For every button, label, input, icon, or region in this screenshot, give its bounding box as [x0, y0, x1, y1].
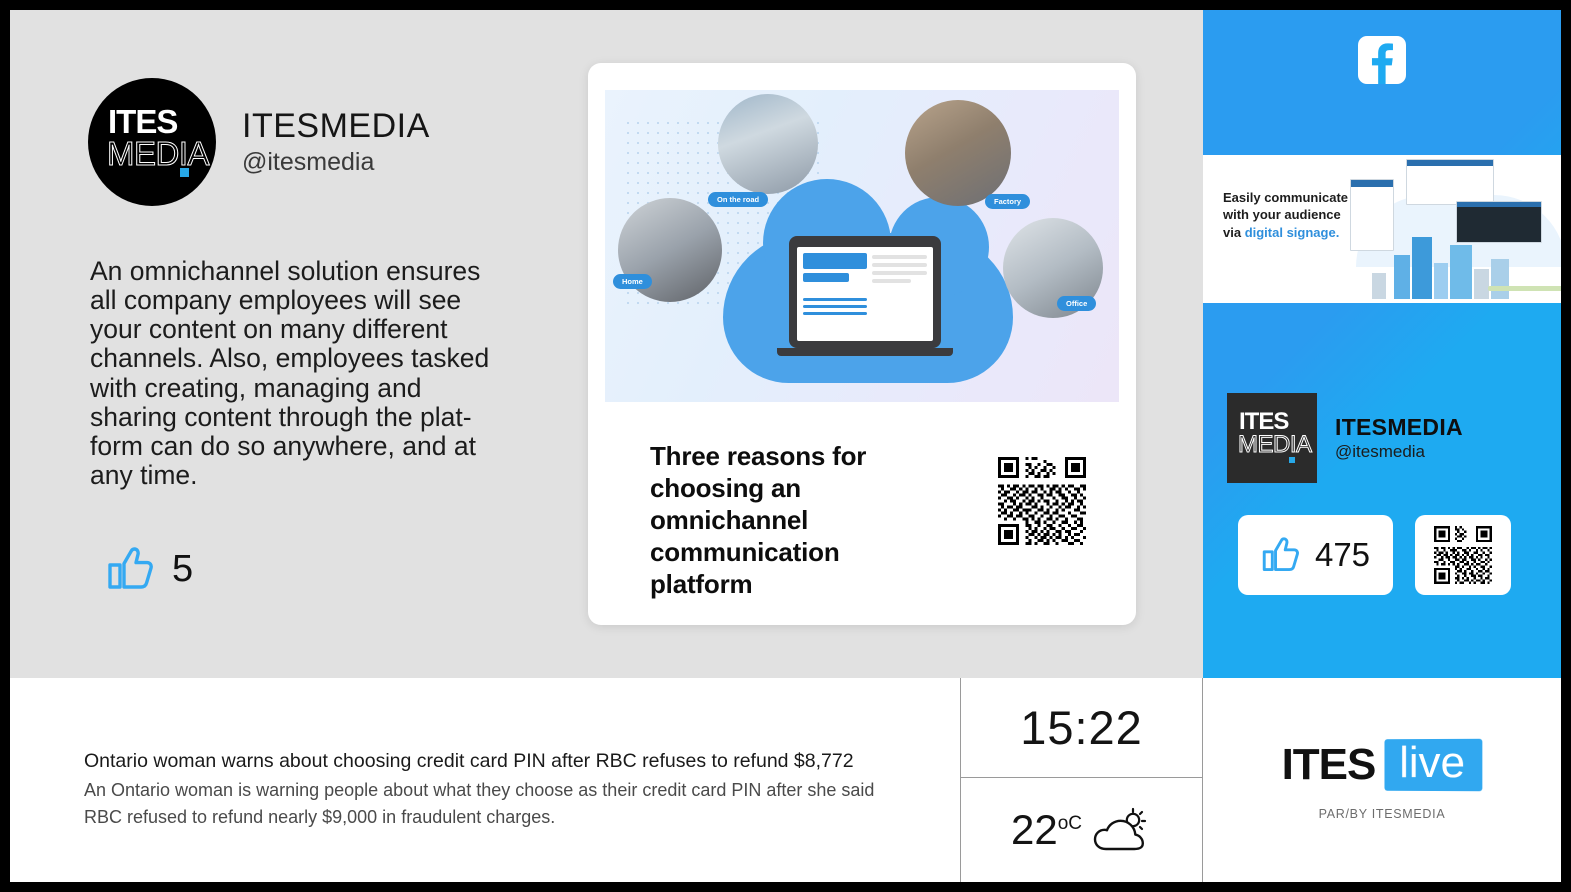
image-label-office: Office — [1057, 296, 1096, 311]
sidebar-logo-line2: MEDIA — [1238, 433, 1312, 457]
photo-circle-factory — [905, 100, 1011, 206]
sidebar-qr-card[interactable] — [1415, 515, 1511, 595]
like-count: 5 — [172, 548, 193, 591]
footer-branding: ITES live PAR/BY ITESMEDIA — [1203, 678, 1561, 882]
sidebar-profile-handle: @itesmedia — [1335, 442, 1463, 462]
avatar-logo-line2: MEDIA — [107, 137, 209, 170]
post-image: On the road Factory Home Office — [605, 90, 1119, 402]
profile-header: ITES MEDIA ITESMEDIA @itesmedia — [88, 78, 430, 206]
thumbs-up-icon — [106, 545, 158, 593]
news-ticker-panel: Ontario woman warns about choosing credi… — [10, 678, 960, 882]
clock-weather-panel: 15:22 22oC — [960, 678, 1203, 882]
weather-temperature: 22oC — [1011, 806, 1082, 854]
clock-time: 15:22 — [1020, 700, 1143, 755]
post-card[interactable]: On the road Factory Home Office — [588, 63, 1136, 625]
sidebar-logo: ITES MEDIA — [1227, 393, 1317, 483]
sidebar: Easily communicate with your audience vi… — [1203, 10, 1561, 882]
news-description: An Ontario woman is warning people about… — [84, 777, 894, 831]
signage-screen: ITES MEDIA ITESMEDIA @itesmedia An omnic… — [10, 10, 1561, 882]
profile-handle: @itesmedia — [242, 148, 430, 177]
like-row: 5 — [106, 545, 193, 593]
ad-illustration — [1338, 159, 1561, 299]
iteslive-logo: ITES live — [1282, 739, 1483, 791]
avatar-accent-dot — [180, 168, 189, 177]
ad-line3-highlight: digital signage. — [1245, 225, 1340, 240]
footer-logo-text: ITES — [1282, 740, 1376, 790]
image-label-home: Home — [613, 274, 652, 289]
weather-unit: oC — [1058, 813, 1082, 834]
sidebar-actions: 475 — [1238, 515, 1511, 595]
sidebar-profile-name: ITESMEDIA — [1335, 414, 1463, 441]
sidebar-logo-accent-dot — [1289, 457, 1295, 463]
sidebar-profile: ITES MEDIA ITESMEDIA @itesmedia — [1227, 393, 1463, 483]
profile-names: ITESMEDIA @itesmedia — [242, 107, 430, 177]
qr-code-icon — [1434, 526, 1492, 584]
thumbs-up-icon — [1261, 535, 1303, 575]
image-label-on-the-road: On the road — [708, 192, 768, 207]
profile-name: ITESMEDIA — [242, 107, 430, 146]
footer-logo-badge: live — [1385, 739, 1483, 791]
advertisement-banner[interactable]: Easily communicate with your audience vi… — [1203, 155, 1561, 303]
clock-widget: 15:22 — [961, 678, 1202, 778]
sidebar-profile-names: ITESMEDIA @itesmedia — [1335, 414, 1463, 462]
qr-code-icon[interactable] — [998, 457, 1086, 545]
image-label-factory: Factory — [985, 194, 1030, 209]
partly-cloudy-icon — [1092, 807, 1152, 853]
sidebar-like-count: 475 — [1315, 536, 1370, 574]
ad-line3-prefix: via — [1223, 225, 1245, 240]
sidebar-like-card[interactable]: 475 — [1238, 515, 1393, 595]
ad-line1: Easily communicate — [1223, 190, 1348, 205]
post-body-text: An omnichannel solution ensures all comp… — [90, 257, 500, 490]
ad-line2: with your audience — [1223, 207, 1341, 222]
news-headline: Ontario woman warns about choosing credi… — [84, 750, 854, 773]
weather-widget: 22oC — [961, 778, 1202, 881]
post-headline: Three reasons for choosing an omnichanne… — [650, 441, 915, 601]
social-post-panel: ITES MEDIA ITESMEDIA @itesmedia An omnic… — [10, 10, 1203, 678]
facebook-icon[interactable] — [1358, 36, 1406, 89]
laptop-illustration — [789, 236, 941, 356]
avatar: ITES MEDIA — [88, 78, 216, 206]
sidebar-blue-section: Easily communicate with your audience vi… — [1203, 10, 1561, 678]
avatar-logo-line1: ITES — [108, 105, 177, 138]
footer-tagline: PAR/BY ITESMEDIA — [1319, 807, 1446, 821]
photo-circle-on-the-road — [718, 94, 818, 194]
